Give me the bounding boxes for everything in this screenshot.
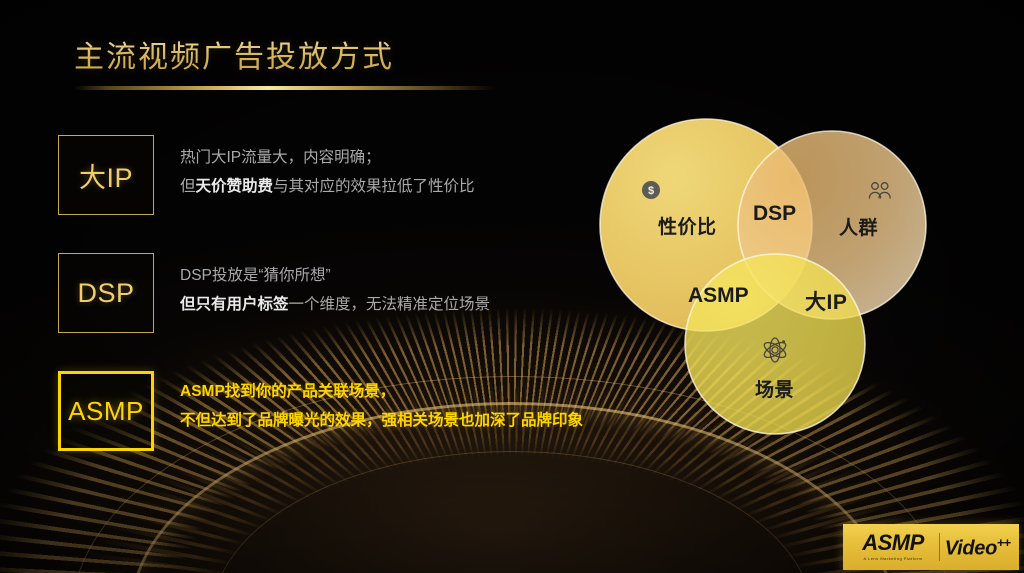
- dollar-coin-icon: $: [641, 180, 661, 200]
- tag-label: 大IP: [79, 156, 133, 195]
- line2-pre: 但: [180, 178, 196, 195]
- venn-label-dsp: DSP: [753, 202, 796, 226]
- title-underline-rule: [74, 86, 494, 90]
- row-description-line2: 不但达到了品牌曝光的效果，强相关场景也加深了品牌印象: [180, 407, 583, 436]
- line2-emphasis: 但只有用户标签: [180, 296, 289, 313]
- logo-brand-text: ASMP: [847, 532, 939, 554]
- tag-box-dsp[interactable]: DSP: [58, 253, 154, 333]
- row-description: ASMP找到你的产品关联场景， 不但达到了品牌曝光的效果，强相关场景也加深了品牌…: [180, 371, 583, 435]
- logo-product-text: Video++: [940, 536, 1015, 559]
- page-title: 主流视频广告投放方式: [74, 32, 544, 76]
- tag-label: ASMP: [68, 396, 144, 427]
- logo-video-block: Video++: [940, 536, 1019, 559]
- channel-list: 大IP 热门大IP流量大，内容明确； 但天价赞助费与其对应的效果拉低了性价比 D…: [58, 135, 678, 489]
- venn-label-daip: 大IP: [805, 286, 847, 316]
- row-description: DSP投放是“猜你所想” 但只有用户标签一个维度，无法精准定位场景: [180, 253, 490, 319]
- venn-diagram: 性价比 人群 场景 DSP ASMP 大IP $: [596, 112, 932, 442]
- row-description: 热门大IP流量大，内容明确； 但天价赞助费与其对应的效果拉低了性价比: [180, 135, 475, 201]
- atom-icon: [761, 336, 789, 364]
- svg-text:$: $: [648, 185, 654, 197]
- line2-post: 一个维度，无法精准定位场景: [289, 296, 491, 313]
- line2-post: 与其对应的效果拉低了性价比: [273, 178, 475, 195]
- people-group-icon: [867, 180, 893, 200]
- brand-logo[interactable]: ASMP A Lens Marketing Platform Video++: [843, 524, 1019, 570]
- list-item[interactable]: 大IP 热门大IP流量大，内容明确； 但天价赞助费与其对应的效果拉低了性价比: [58, 135, 678, 215]
- row-description-line2: 但只有用户标签一个维度，无法精准定位场景: [180, 291, 490, 320]
- venn-label-cost: 性价比: [658, 212, 717, 239]
- slide-title-block: 主流视频广告投放方式: [74, 32, 544, 90]
- row-description-line1: 热门大IP流量大，内容明确；: [180, 144, 475, 173]
- row-description-line1: DSP投放是“猜你所想”: [180, 262, 490, 291]
- venn-label-audience: 人群: [839, 213, 878, 240]
- row-description-line2: 但天价赞助费与其对应的效果拉低了性价比: [180, 173, 475, 202]
- row-description-line1: ASMP找到你的产品关联场景，: [180, 378, 583, 407]
- logo-brand-tagline: A Lens Marketing Platform: [847, 557, 939, 561]
- slide-root: 主流视频广告投放方式 大IP 热门大IP流量大，内容明确； 但天价赞助费与其对应…: [0, 0, 1024, 573]
- logo-asmp-block: ASMP A Lens Marketing Platform: [843, 532, 939, 561]
- tag-box-asmp[interactable]: ASMP: [58, 371, 154, 451]
- venn-label-asmp: ASMP: [688, 284, 749, 308]
- list-item-highlighted[interactable]: ASMP ASMP找到你的产品关联场景， 不但达到了品牌曝光的效果，强相关场景也…: [58, 371, 678, 451]
- logo-product-name: Video: [945, 537, 997, 559]
- line2-post: 不但达到了品牌曝光的效果，强相关场景也加深了品牌印象: [180, 412, 583, 429]
- venn-label-scene: 场景: [755, 375, 794, 402]
- line2-emphasis: 天价赞助费: [196, 178, 274, 195]
- tag-label: DSP: [77, 278, 134, 309]
- list-item[interactable]: DSP DSP投放是“猜你所想” 但只有用户标签一个维度，无法精准定位场景: [58, 253, 678, 333]
- logo-product-superscript: ++: [997, 535, 1010, 550]
- tag-box-daip[interactable]: 大IP: [58, 135, 154, 215]
